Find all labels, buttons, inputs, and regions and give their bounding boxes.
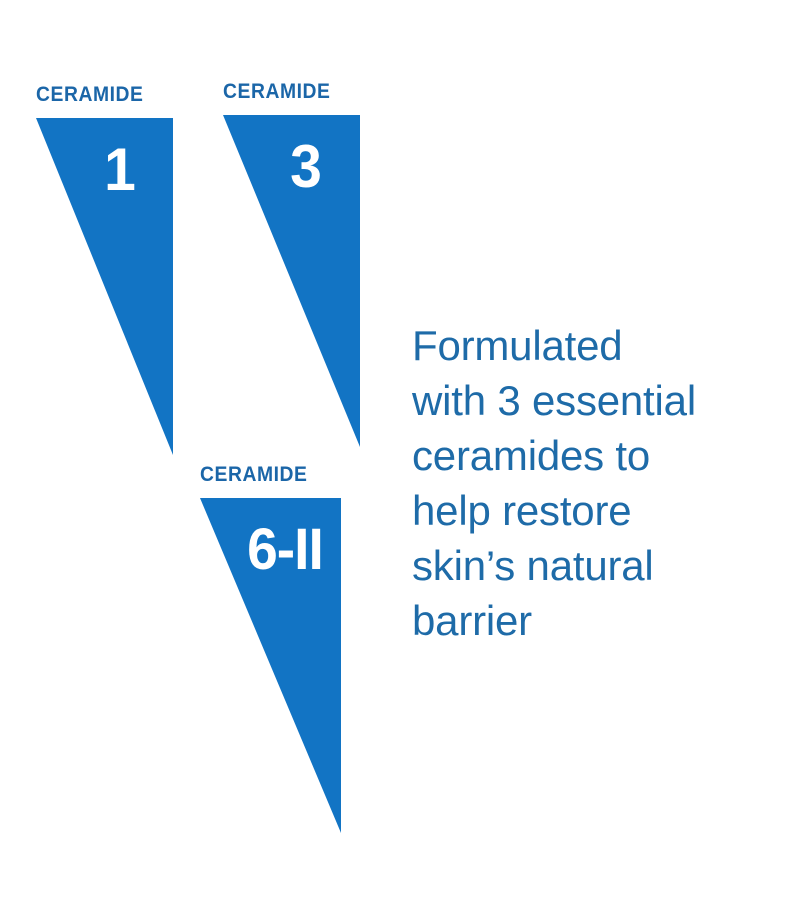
ceramide-number-3: 3 bbox=[279, 137, 332, 197]
ceramide-label-6-ii: CERAMIDE bbox=[200, 464, 307, 485]
description-line: ceramides to bbox=[412, 428, 742, 483]
ceramide-number-1: 1 bbox=[93, 140, 146, 200]
ceramide-label-3: CERAMIDE bbox=[223, 81, 330, 102]
ceramide-label-1: CERAMIDE bbox=[36, 84, 143, 105]
description-line: with 3 essential bbox=[412, 373, 742, 428]
ceramide-infographic: CERAMIDE CERAMIDE CERAMIDE 1 3 6-II Form… bbox=[0, 0, 800, 900]
ceramide-number-6-ii: 6-II bbox=[231, 521, 339, 579]
description-line: help restore bbox=[412, 483, 742, 538]
description-line: Formulated bbox=[412, 318, 742, 373]
description-line: skin’s natural bbox=[412, 538, 742, 593]
description-line: barrier bbox=[412, 593, 742, 648]
description-text: Formulated with 3 essential ceramides to… bbox=[412, 318, 742, 648]
